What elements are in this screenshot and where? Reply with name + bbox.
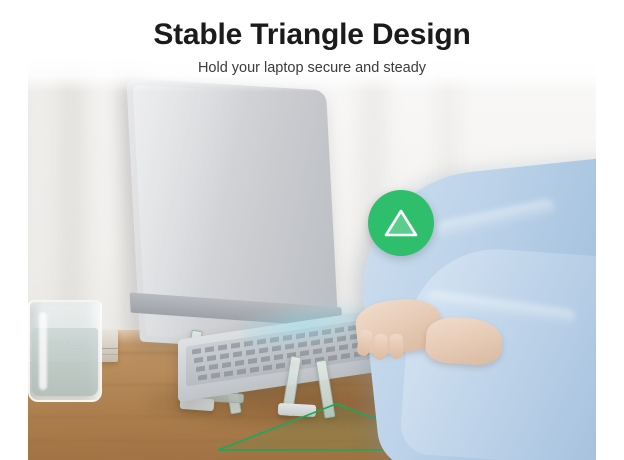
finger <box>373 334 388 361</box>
page-subtitle: Hold your laptop secure and steady <box>0 60 624 76</box>
water-glass <box>28 300 102 402</box>
glass-highlight <box>39 312 47 390</box>
triangle-badge <box>368 190 434 256</box>
triangle-icon <box>384 208 418 238</box>
finger <box>390 334 404 359</box>
product-marketing-image: Cotton Case <box>0 0 624 460</box>
page-title: Stable Triangle Design <box>0 18 624 52</box>
